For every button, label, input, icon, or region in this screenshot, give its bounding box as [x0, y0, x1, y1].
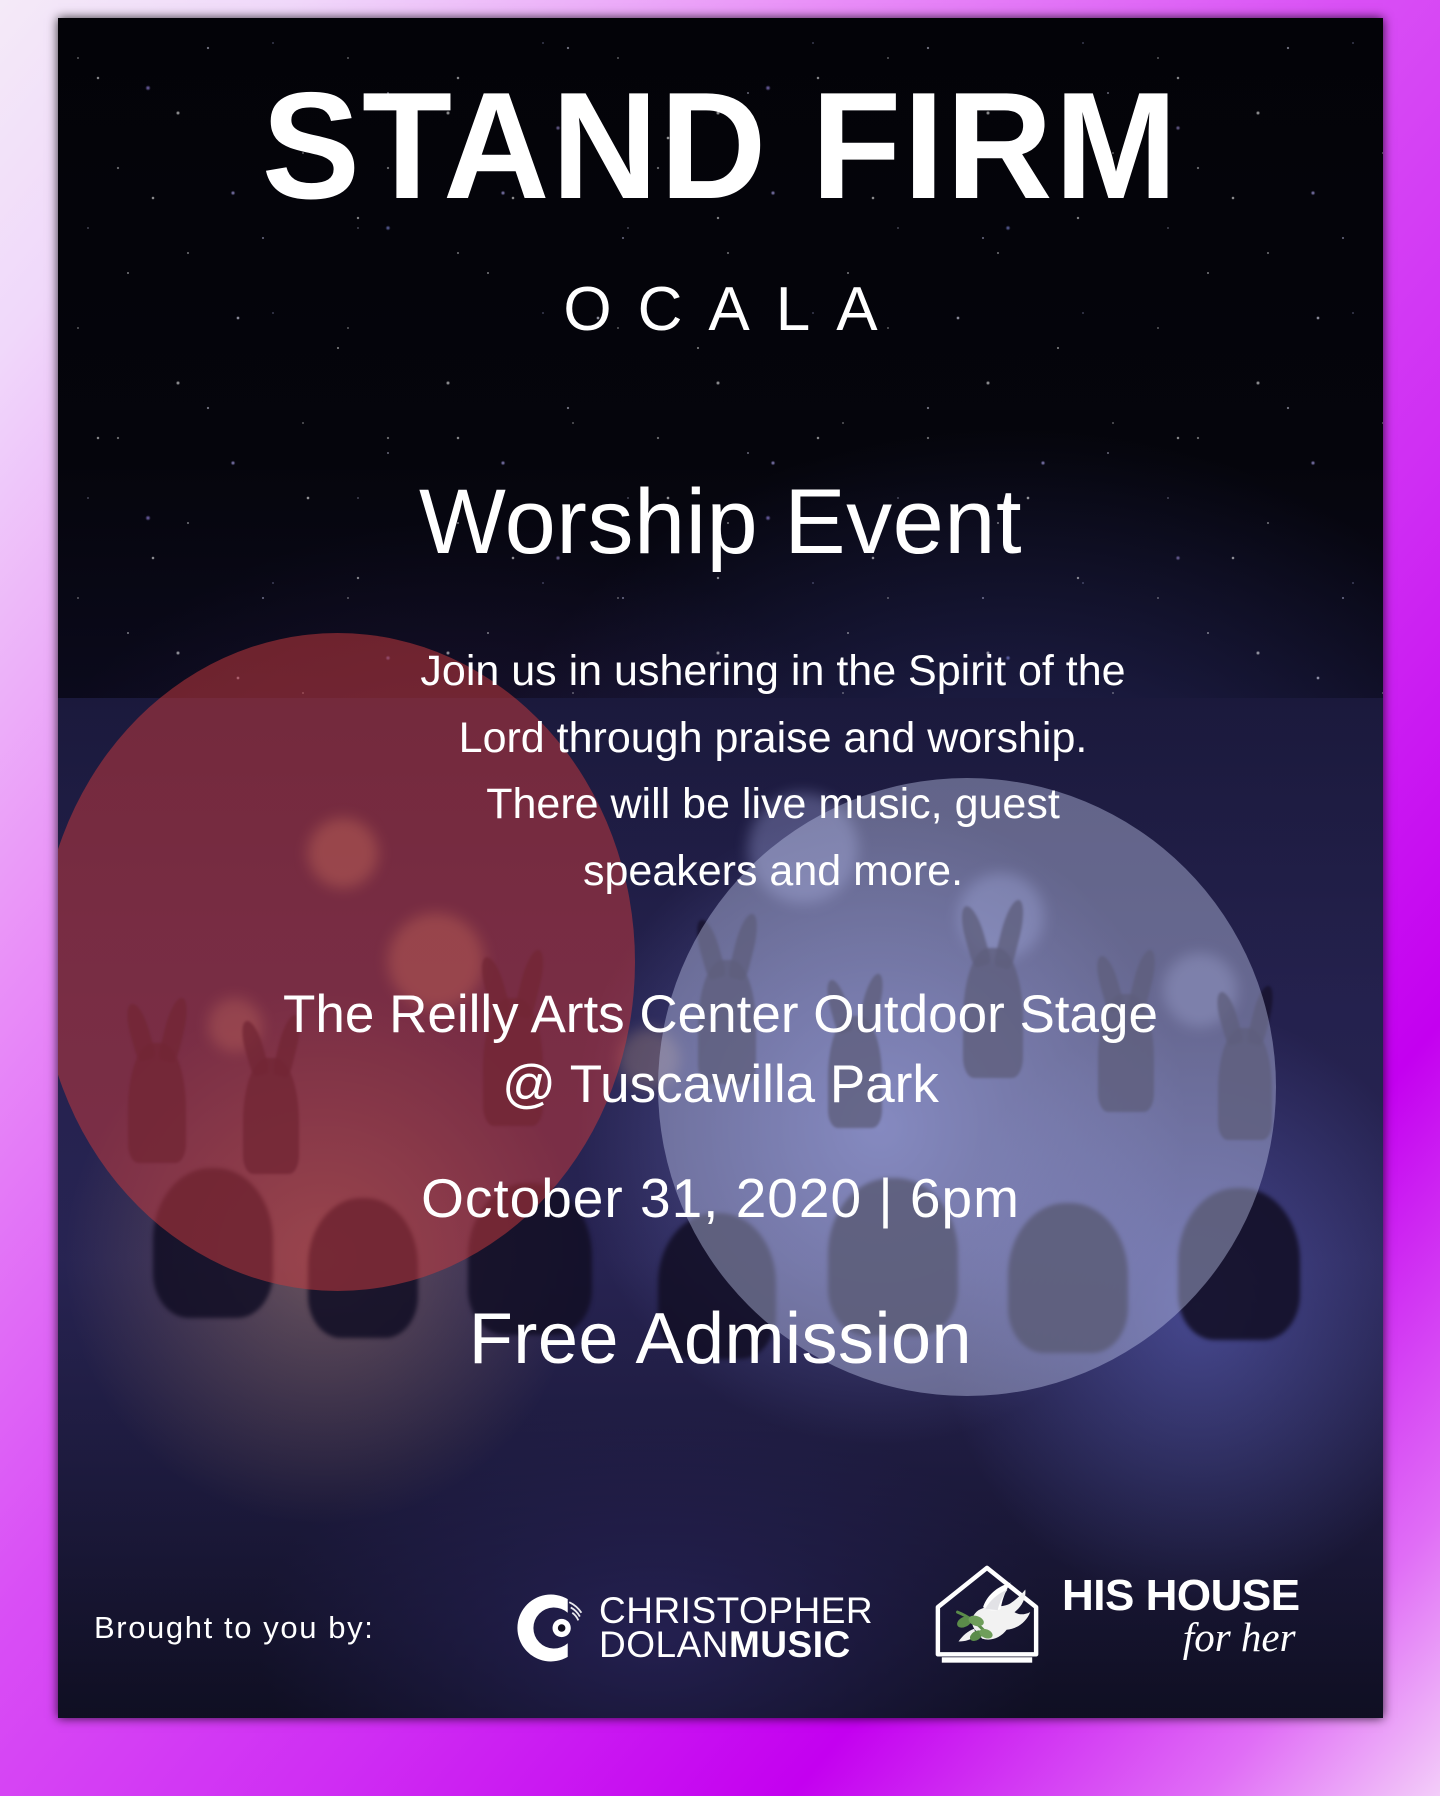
- sponsor-wordmark: HIS HOUSE for her: [1062, 1575, 1300, 1658]
- event-datetime: October 31, 2020 | 6pm: [58, 1166, 1383, 1230]
- poster-content: STAND FIRM OCALA Worship Event Join us i…: [58, 18, 1383, 1718]
- sponsor-christopher-dolan-music[interactable]: CHRISTOPHER DOLANMUSIC: [513, 1590, 873, 1666]
- poster-frame: STAND FIRM OCALA Worship Event Join us i…: [0, 0, 1440, 1796]
- poster-title: STAND FIRM: [78, 70, 1363, 222]
- vinyl-record-icon: [513, 1590, 589, 1666]
- hh-line-2: for her: [1183, 1618, 1296, 1657]
- sponsor-wordmark: CHRISTOPHER DOLANMUSIC: [599, 1594, 873, 1663]
- sponsor-his-house-for-her[interactable]: HIS HOUSE for her: [928, 1560, 1300, 1672]
- venue-block: The Reilly Arts Center Outdoor Stage @ T…: [58, 980, 1383, 1121]
- poster-subtitle: OCALA: [58, 274, 1383, 345]
- venue-line-2: @ Tuscawilla Park: [58, 1050, 1383, 1120]
- house-dove-icon: [928, 1560, 1046, 1672]
- brought-to-you-by-label: Brought to you by:: [94, 1610, 374, 1646]
- event-description: Join us in ushering in the Spirit of the…: [413, 638, 1133, 905]
- cdm-line-1: CHRISTOPHER: [599, 1594, 873, 1628]
- hh-line-1: HIS HOUSE: [1062, 1575, 1300, 1617]
- cdm-dolan: DOLAN: [599, 1624, 729, 1665]
- venue-line-1: The Reilly Arts Center Outdoor Stage: [58, 980, 1383, 1050]
- poster-footer: Brought to you by:: [58, 1544, 1383, 1694]
- cdm-music: MUSIC: [729, 1624, 851, 1665]
- poster-artwork-panel: STAND FIRM OCALA Worship Event Join us i…: [58, 18, 1383, 1718]
- admission-text: Free Admission: [58, 1298, 1383, 1380]
- cdm-line-2: DOLANMUSIC: [599, 1628, 873, 1662]
- event-type-heading: Worship Event: [58, 470, 1383, 575]
